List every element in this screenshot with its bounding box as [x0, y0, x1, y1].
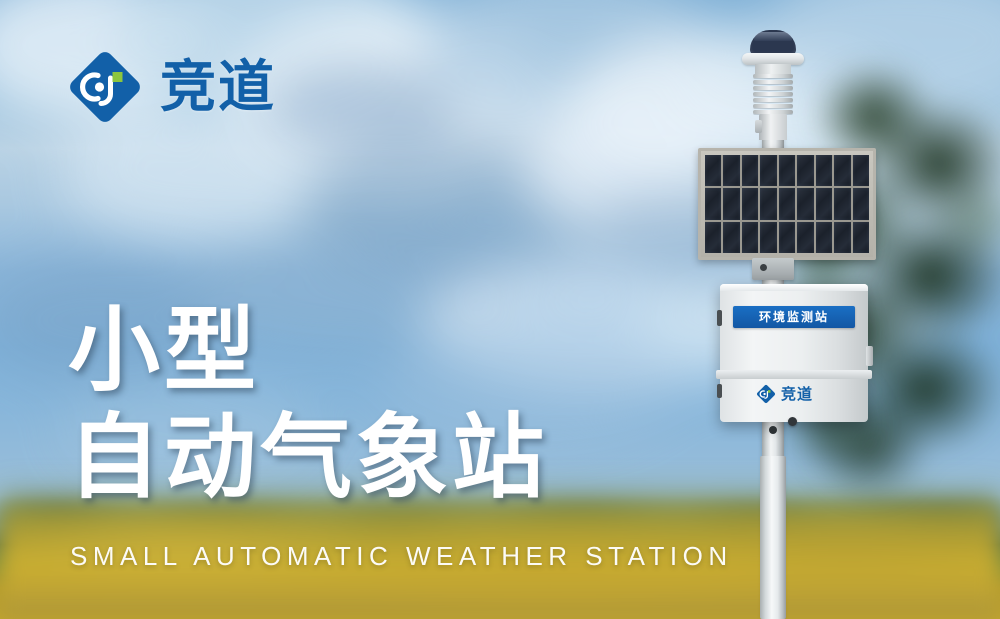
- shield-fin: [753, 74, 793, 78]
- shield-fin: [753, 80, 793, 84]
- sensor-body: [759, 114, 787, 140]
- solar-cell: [797, 155, 813, 186]
- shield-fin: [753, 86, 793, 90]
- enclosure-brand-logo: 竞道: [756, 384, 813, 404]
- radiation-shield-fins: [753, 74, 793, 114]
- solar-panel-icon: [698, 148, 876, 260]
- shield-fin: [753, 98, 793, 102]
- enclosure-box: 环境监测站 竞道: [720, 284, 868, 422]
- jingdao-diamond-logo-icon: [756, 384, 776, 404]
- solar-cell: [816, 222, 832, 253]
- enclosure-label-text: 环境监测站: [759, 311, 829, 323]
- page-subtitle: SMALL AUTOMATIC WEATHER STATION: [70, 541, 733, 572]
- weather-station-product: 环境监测站 竞道: [690, 26, 890, 619]
- enclosure-top-edge: [720, 284, 868, 291]
- solar-cell: [760, 222, 776, 253]
- enclosure-hinge: [717, 384, 722, 398]
- solar-cell: [723, 188, 739, 219]
- solar-cell: [779, 188, 795, 219]
- brand-logo: 竞道: [66, 48, 276, 126]
- enclosure-lip: [716, 370, 872, 379]
- brand-name: 竞道: [160, 59, 276, 115]
- solar-cell: [779, 222, 795, 253]
- shield-fin: [753, 104, 793, 108]
- solar-cell: [723, 222, 739, 253]
- enclosure-hinge: [717, 310, 722, 326]
- cloud-blob: [260, 60, 460, 150]
- solar-cell: [705, 188, 721, 219]
- solar-cell: [742, 222, 758, 253]
- solar-cell: [779, 155, 795, 186]
- solar-cell: [760, 188, 776, 219]
- enclosure-label-banner: 环境监测站: [733, 306, 855, 328]
- solar-cell: [742, 188, 758, 219]
- solar-cell: [723, 155, 739, 186]
- solar-cell: [834, 155, 850, 186]
- pole-bolt: [769, 426, 777, 434]
- promo-banner: 竞道 小型 自动气象站 SMALL AUTOMATIC WEATHER STAT…: [0, 0, 1000, 619]
- solar-cell: [853, 188, 869, 219]
- solar-panel-bracket: [752, 258, 794, 280]
- jingdao-diamond-logo-icon: [66, 48, 144, 126]
- bracket-bolt: [760, 264, 767, 271]
- enclosure-latch: [866, 346, 873, 366]
- page-title: 小型 自动气象站: [68, 300, 548, 510]
- enclosure-lock: [788, 417, 797, 426]
- solar-cell-grid: [705, 155, 869, 253]
- headline-line-1: 小型: [68, 300, 548, 403]
- ultrasonic-weather-sensor-icon: [738, 26, 808, 136]
- solar-cell: [797, 222, 813, 253]
- solar-cell: [797, 188, 813, 219]
- solar-cell: [816, 188, 832, 219]
- solar-cell: [853, 155, 869, 186]
- solar-cell: [705, 222, 721, 253]
- headline-line-2: 自动气象站: [68, 407, 548, 510]
- solar-cell: [742, 155, 758, 186]
- solar-cell: [760, 155, 776, 186]
- solar-cell: [853, 222, 869, 253]
- solar-cell: [816, 155, 832, 186]
- enclosure-brand-name: 竞道: [781, 387, 813, 402]
- solar-cell: [834, 188, 850, 219]
- solar-cell: [834, 222, 850, 253]
- mounting-pole-lower: [760, 456, 786, 619]
- solar-cell: [705, 155, 721, 186]
- shield-fin: [753, 92, 793, 96]
